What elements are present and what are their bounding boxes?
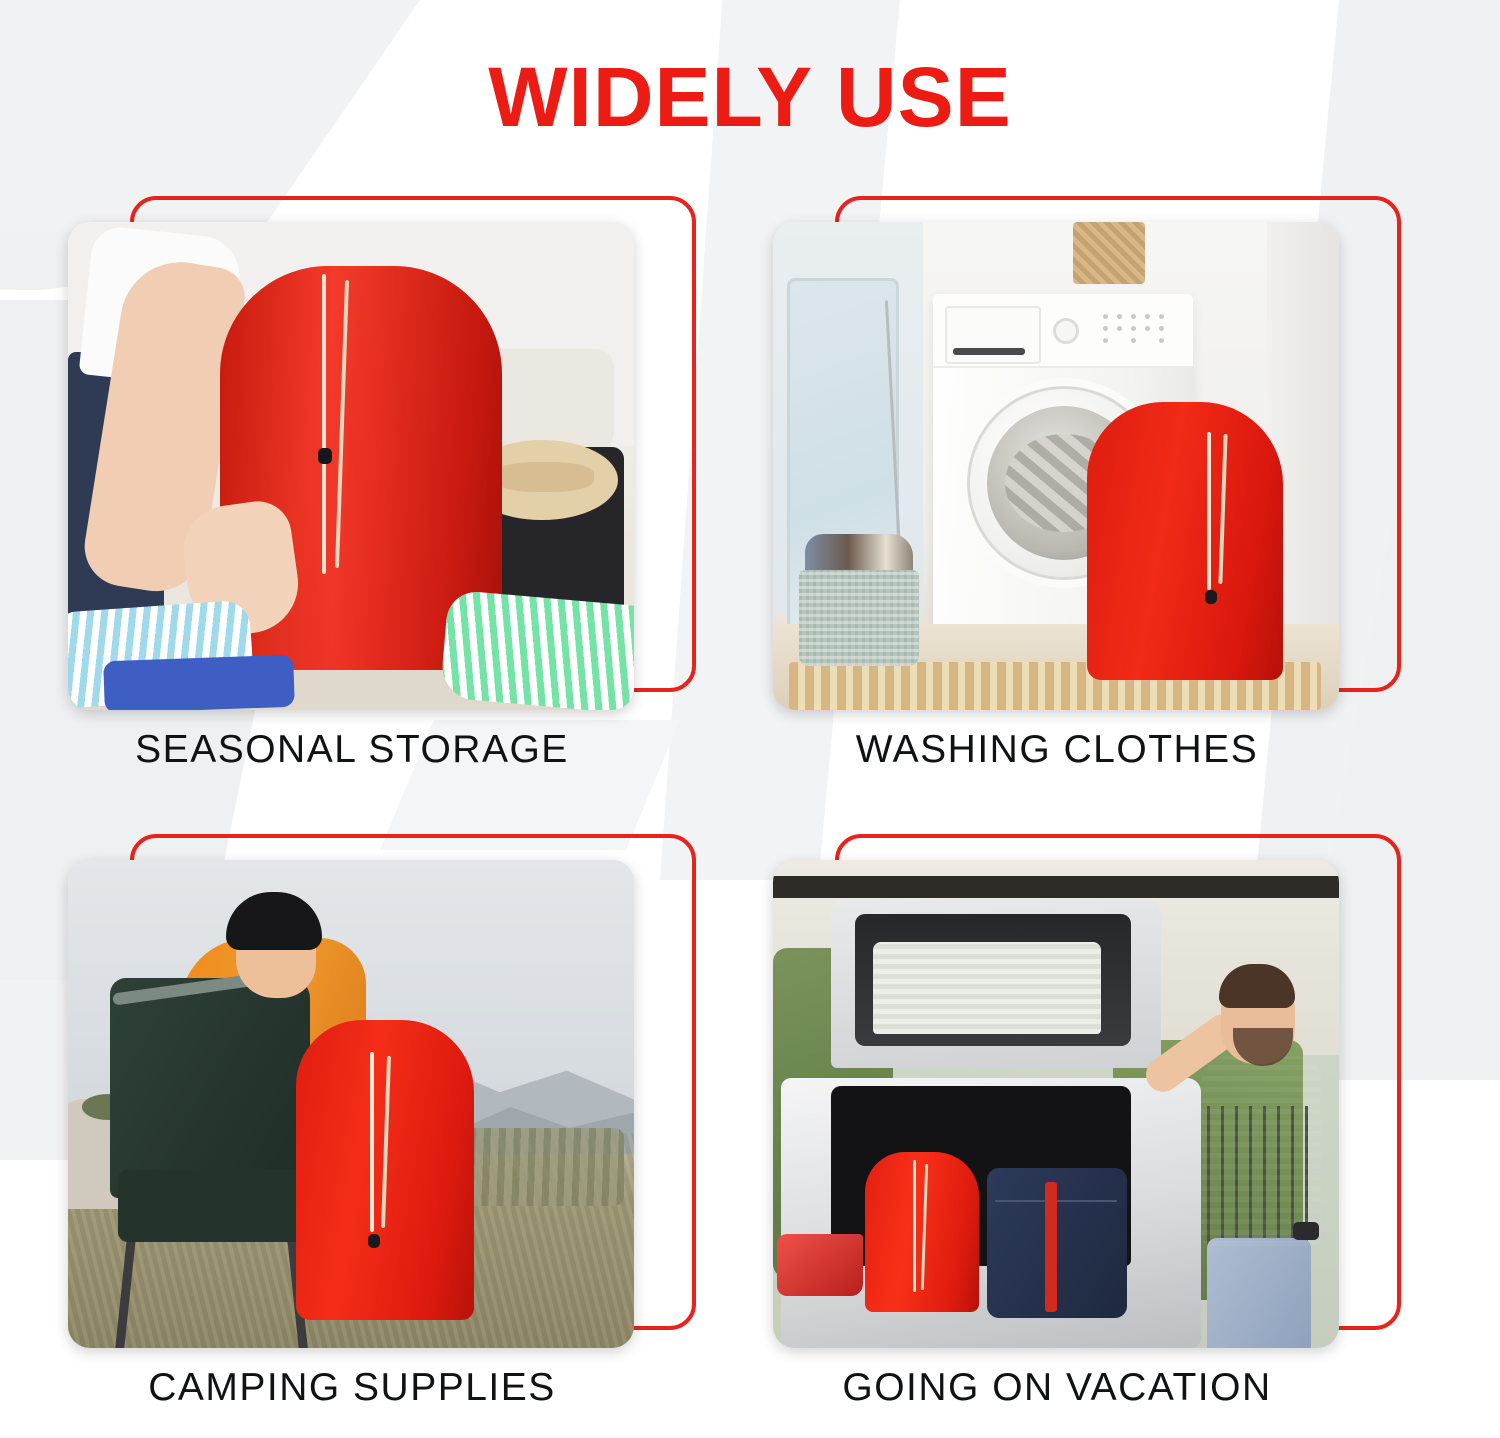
scene-going-on-vacation: [773, 860, 1339, 1348]
scene-camping-supplies: [68, 860, 634, 1348]
panel-caption-going-on-vacation: GOING ON VACATION: [745, 1366, 1369, 1410]
wrist-watch: [1293, 1222, 1319, 1240]
drawstring-toggle: [1205, 590, 1217, 604]
photo-camping-supplies: [68, 860, 634, 1348]
page-title: WIDELY USE: [0, 55, 1500, 139]
use-case-panel-going-on-vacation: GOING ON VACATION: [745, 818, 1445, 1438]
suitcase-red-stripe: [1045, 1182, 1057, 1312]
drawstring-cord: [322, 274, 326, 574]
use-case-panel-camping-supplies: CAMPING SUPPLIES: [40, 818, 740, 1438]
navy-suitcase: [987, 1168, 1127, 1318]
photo-washing-clothes: [773, 222, 1339, 710]
green-woven-basket: [799, 570, 919, 666]
camping-chair: [110, 978, 310, 1198]
drawstring-cord: [1207, 432, 1211, 590]
detergent-drawer-handle: [953, 348, 1025, 355]
photo-going-on-vacation: [773, 860, 1339, 1348]
person-navy-shirt: [1201, 1056, 1321, 1246]
drawstring-cord: [913, 1160, 916, 1292]
scene-washing-clothes: [773, 222, 1339, 710]
wicker-basket-shelf: [1073, 222, 1145, 284]
tail-light: [777, 1234, 863, 1296]
cargo-cover: [873, 942, 1101, 1034]
camping-chair-seat: [118, 1170, 314, 1242]
red-laundry-bag: [1087, 402, 1283, 680]
drawstring-cord: [370, 1052, 374, 1232]
panel-caption-seasonal-storage: SEASONAL STORAGE: [40, 728, 664, 772]
scene-seasonal-storage: [68, 222, 634, 710]
straw-hat-band: [494, 462, 594, 492]
use-case-panel-seasonal-storage: SEASONAL STORAGE: [40, 180, 740, 800]
detergent-drawer: [945, 306, 1041, 364]
person-jeans: [1207, 1238, 1311, 1348]
roof-eave: [773, 876, 1339, 898]
panel-caption-camping-supplies: CAMPING SUPPLIES: [40, 1366, 664, 1410]
use-case-panel-washing-clothes: WASHING CLOTHES: [745, 180, 1445, 800]
program-dial: [1053, 318, 1079, 344]
panel-caption-washing-clothes: WASHING CLOTHES: [745, 728, 1369, 772]
photo-seasonal-storage: [68, 222, 634, 710]
indicator-lights: [1103, 314, 1177, 352]
drawstring-toggle: [368, 1234, 380, 1248]
drawstring-toggle: [318, 448, 332, 464]
folded-navy-clothes: [103, 655, 295, 710]
folded-green-striped-clothes: [440, 589, 634, 710]
